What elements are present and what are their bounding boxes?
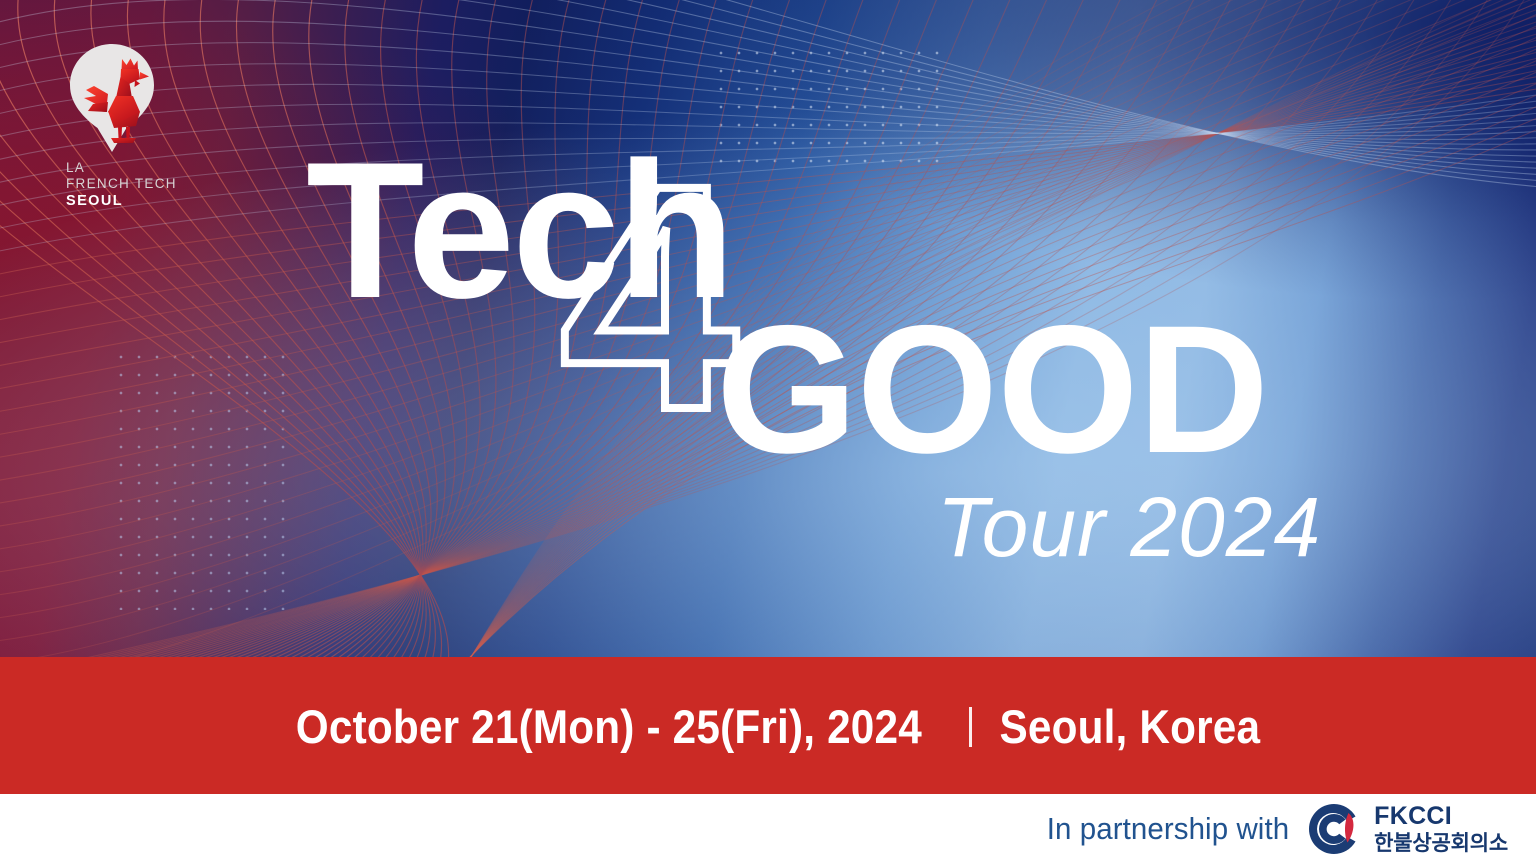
- logo-wordmark: LA FRENCH TECH SEOUL: [28, 160, 198, 210]
- hero-section: LA FRENCH TECH SEOUL Tech GOOD 4 Tour 20…: [0, 0, 1536, 657]
- fkcci-logo: FKCCI 한불상공회의소: [1303, 801, 1508, 857]
- event-location: Seoul, Korea: [1000, 699, 1261, 754]
- partnership-label: In partnership with: [1047, 811, 1289, 847]
- curved-mesh-pattern: [0, 0, 1536, 657]
- map-pin-icon: [66, 42, 158, 154]
- logo-line-1: LA: [66, 160, 198, 176]
- text-separator: [969, 707, 972, 747]
- fkcci-logo-icon: [1303, 801, 1365, 857]
- fkcci-abbr: FKCCI: [1374, 804, 1508, 829]
- event-date-location-bar: October 21(Mon) - 25(Fri), 2024 Seoul, K…: [0, 657, 1536, 794]
- la-french-tech-seoul-logo: LA FRENCH TECH SEOUL: [28, 42, 198, 210]
- fkcci-name-korean: 한불상공회의소: [1374, 833, 1508, 854]
- event-dates: October 21(Mon) - 25(Fri), 2024: [296, 699, 922, 754]
- event-banner: LA FRENCH TECH SEOUL Tech GOOD 4 Tour 20…: [0, 0, 1536, 864]
- logo-line-2: FRENCH TECH: [66, 176, 198, 192]
- partnership-footer: In partnership with FKCCI 한불상공회의소: [0, 794, 1536, 864]
- logo-line-3: SEOUL: [66, 192, 198, 210]
